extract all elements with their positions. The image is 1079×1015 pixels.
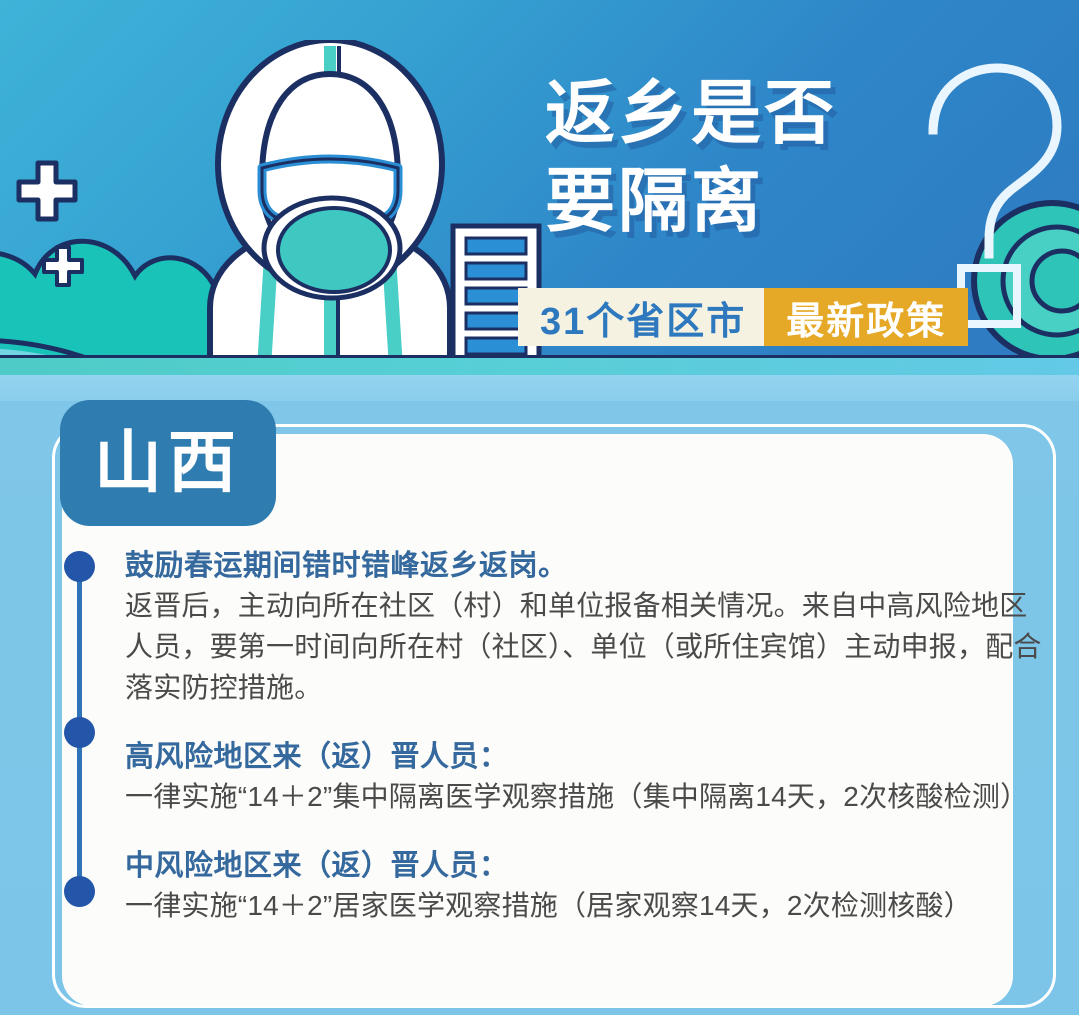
headline-line-2: 要隔离 [545, 166, 945, 236]
province-badge: 山西 [60, 400, 276, 526]
divider-band-under [0, 375, 1079, 401]
page-title: 返乡是否 要隔离 [545, 78, 945, 236]
policy-heading: 鼓励春运期间错时错峰返乡返岗。 [125, 546, 1050, 586]
subtitle-left: 31个省区市 [518, 288, 764, 346]
divider-band [0, 355, 1079, 375]
policy-body: 一律实施“14＋2”居家医学观察措施（居家观察14天，2次检测核酸） [125, 886, 1050, 927]
policy-heading: 中风险地区来（返）晋人员： [125, 846, 1050, 886]
list-item: 高风险地区来（返）晋人员： 一律实施“14＋2”集中隔离医学观察措施（集中隔离1… [125, 737, 1050, 818]
subtitle-right: 最新政策 [764, 288, 968, 346]
subtitle-right-label: 最新政策 [786, 290, 946, 345]
medical-cross-icon [40, 243, 86, 289]
policy-body: 返晋后，主动向所在社区（村）和单位报备相关情况。来自中高风险地区人员，要第一时间… [125, 586, 1050, 709]
timeline-dot [64, 717, 95, 748]
medical-worker-hazmat-icon [150, 40, 510, 372]
policy-heading: 高风险地区来（返）晋人员： [125, 737, 1050, 777]
subtitle-banner: 31个省区市 最新政策 [518, 288, 968, 346]
timeline-dot [64, 551, 95, 582]
policy-list: 鼓励春运期间错时错峰返乡返岗。 返晋后，主动向所在社区（村）和单位报备相关情况。… [125, 546, 1050, 932]
policy-body: 一律实施“14＋2”集中隔离医学观察措施（集中隔离14天，2次核酸检测） [125, 777, 1050, 818]
timeline-dot [64, 876, 95, 907]
province-badge-label: 山西 [94, 429, 242, 497]
list-item: 鼓励春运期间错时错峰返乡返岗。 返晋后，主动向所在社区（村）和单位报备相关情况。… [125, 546, 1050, 709]
infographic-poster: 返乡是否 要隔离 31个省区市 最新政策 山西 鼓励春运期间错时错峰返乡返岗。 … [0, 0, 1079, 1015]
list-item: 中风险地区来（返）晋人员： 一律实施“14＋2”居家医学观察措施（居家观察14天… [125, 846, 1050, 927]
headline-line-1: 返乡是否 [545, 78, 945, 148]
medical-cross-icon [14, 158, 80, 224]
subtitle-left-label: 31个省区市 [540, 290, 746, 345]
